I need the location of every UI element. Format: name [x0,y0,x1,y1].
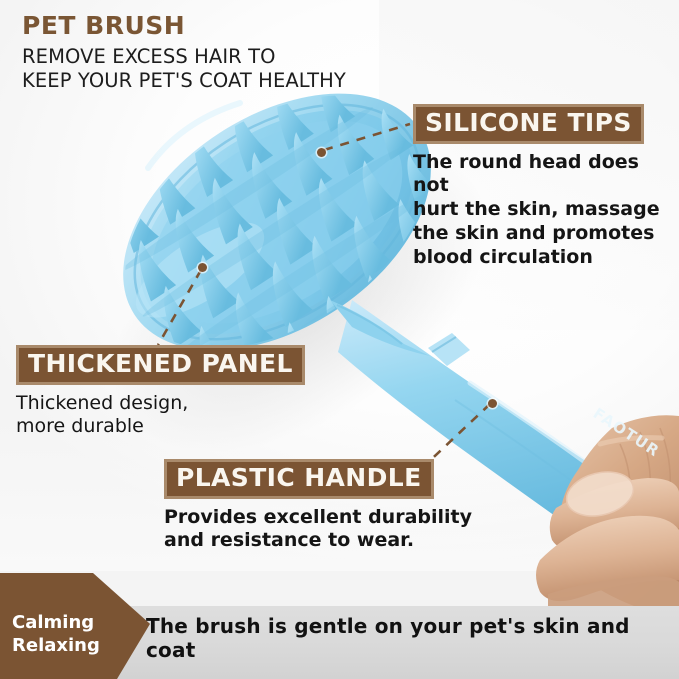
callout-body-line-1: The round head does not [413,151,671,199]
callout-thickened-panel: THICKENED PANEL Thickened design, more d… [16,345,336,439]
callout-badge-silicone-tips: SILICONE TIPS [413,104,644,144]
callout-marker-plastic-handle [488,399,497,408]
callout-body-line-2: more durable [16,415,336,439]
callout-marker-silicone-tips [317,148,326,157]
headline-block: PET BRUSH REMOVE EXCESS HAIR TO KEEP YOU… [22,12,442,92]
page-subtitle-line-1: REMOVE EXCESS HAIR TO [22,45,442,69]
corner-flag-line-1: Calming [12,612,100,635]
callout-body-line-1: Thickened design, [16,392,336,416]
infographic-canvas: FAOTUR PET BRUSH REMOVE EXCESS HAIR TO K… [0,0,679,679]
callout-body-line-3: the skin and promotes [413,222,671,246]
callout-marker-thickened-panel [198,263,207,272]
callout-body-line-4: blood circulation [413,246,671,270]
callout-body-silicone-tips: The round head does not hurt the skin, m… [413,151,671,270]
page-subtitle: REMOVE EXCESS HAIR TO KEEP YOUR PET'S CO… [22,45,442,93]
corner-flag-line-2: Relaxing [12,635,100,658]
callout-body-thickened-panel: Thickened design, more durable [16,392,336,440]
callout-body-line-2: hurt the skin, massage [413,198,671,222]
callout-plastic-handle: PLASTIC HANDLE Provides excellent durabi… [164,459,494,553]
callout-body-plastic-handle: Provides excellent durability and resist… [164,506,494,554]
page-subtitle-line-2: KEEP YOUR PET'S COAT HEALTHY [22,69,442,93]
callout-badge-thickened-panel: THICKENED PANEL [16,345,305,385]
callout-silicone-tips: SILICONE TIPS The round head does not hu… [413,104,671,269]
callout-body-line-1: Provides excellent durability [164,506,494,530]
product-photo-pet-brush: FAOTUR [0,0,679,679]
callout-badge-plastic-handle: PLASTIC HANDLE [164,459,434,499]
corner-flag-text: Calming Relaxing [12,612,100,657]
callout-body-line-2: and resistance to wear. [164,529,494,553]
bottom-banner-caption: The brush is gentle on your pet's skin a… [146,614,679,662]
page-title: PET BRUSH [22,12,442,41]
